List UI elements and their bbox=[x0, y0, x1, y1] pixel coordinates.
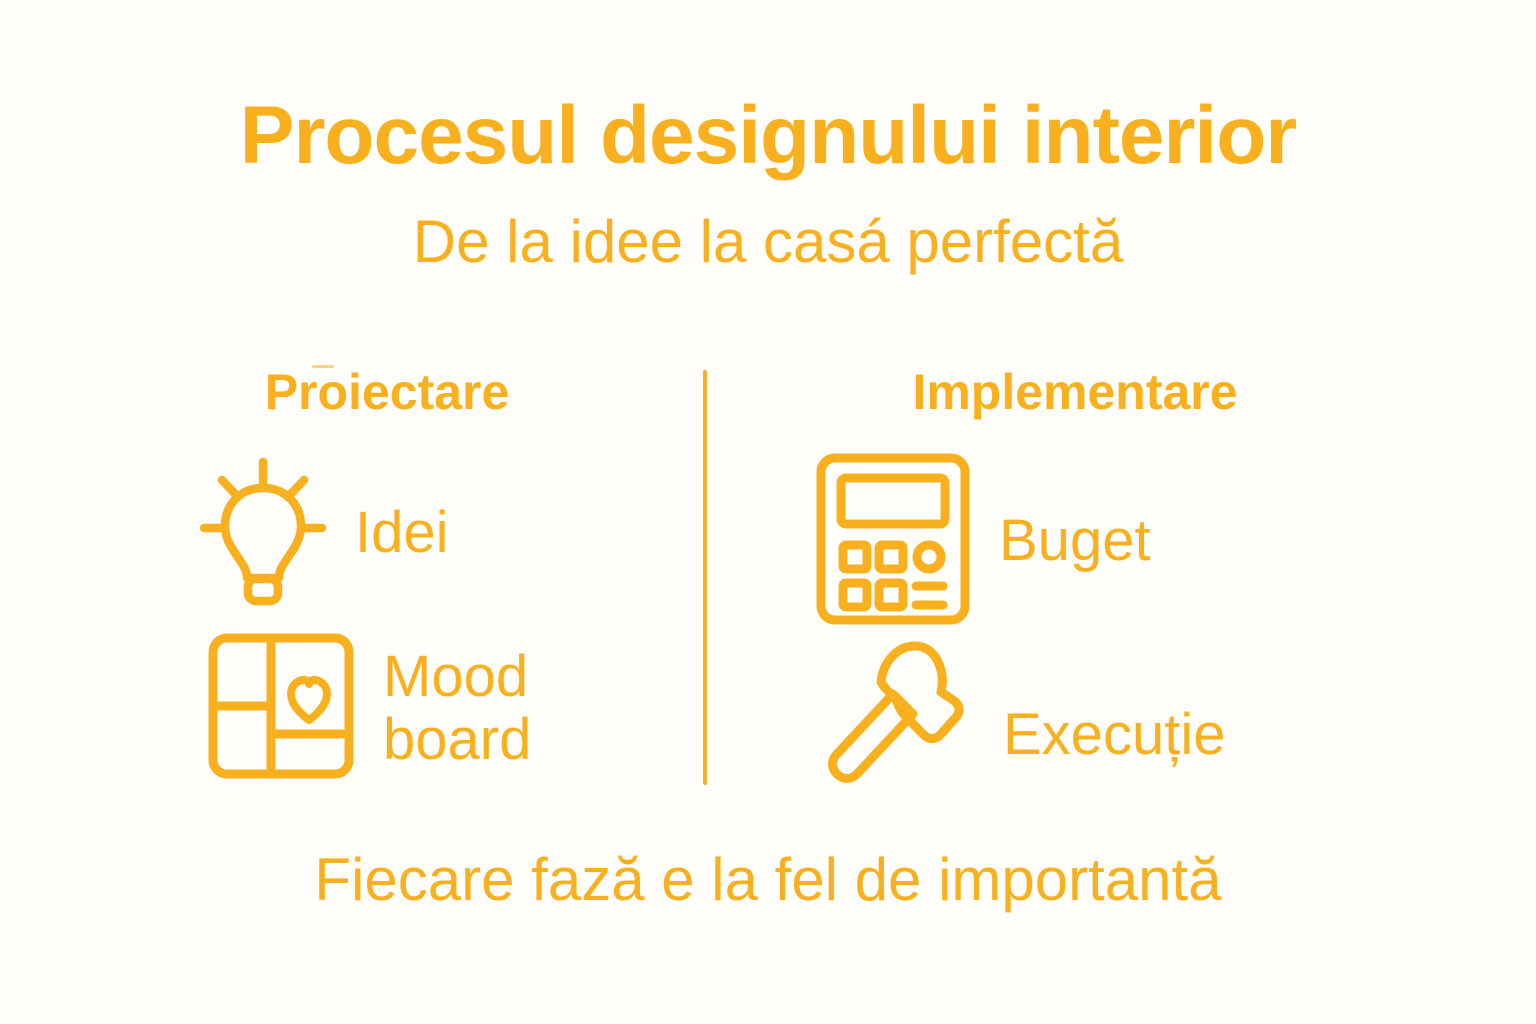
list-item-label-buget: Buget bbox=[999, 510, 1151, 573]
calculator-icon bbox=[813, 450, 973, 633]
list-item-label-mood-board: Mood board bbox=[383, 646, 531, 771]
column-heading-implementare: Implementare bbox=[825, 367, 1325, 417]
column-divider bbox=[703, 370, 707, 785]
mood-board-icon bbox=[205, 630, 357, 787]
column-heading-proiectare: Proiectare bbox=[147, 367, 627, 417]
column-implementare: Implementare bbox=[755, 360, 1385, 800]
columns-container: Proiectare bbox=[0, 360, 1536, 800]
infographic-poster: Procesul designului interior De la idee … bbox=[0, 0, 1536, 1024]
lightbulb-icon bbox=[197, 456, 329, 611]
hammer-icon bbox=[815, 638, 977, 793]
footer-caption: Fiecare fază e la fel de importantă bbox=[0, 850, 1536, 910]
list-item-idei: Idei bbox=[197, 456, 449, 611]
list-item-mood-board: Mood board bbox=[205, 630, 531, 787]
page-title: Procesul designului interior bbox=[0, 95, 1536, 177]
list-item-buget: Buget bbox=[813, 450, 1151, 633]
macron-artifact bbox=[312, 365, 334, 368]
list-item-label-executie: Execuție bbox=[1003, 704, 1225, 767]
page-subtitle: De la idee la casá perfectă bbox=[0, 212, 1536, 272]
list-item-label-idei: Idei bbox=[355, 502, 449, 565]
list-item-executie: Execuție bbox=[815, 638, 1225, 793]
column-proiectare: Proiectare bbox=[75, 360, 705, 800]
